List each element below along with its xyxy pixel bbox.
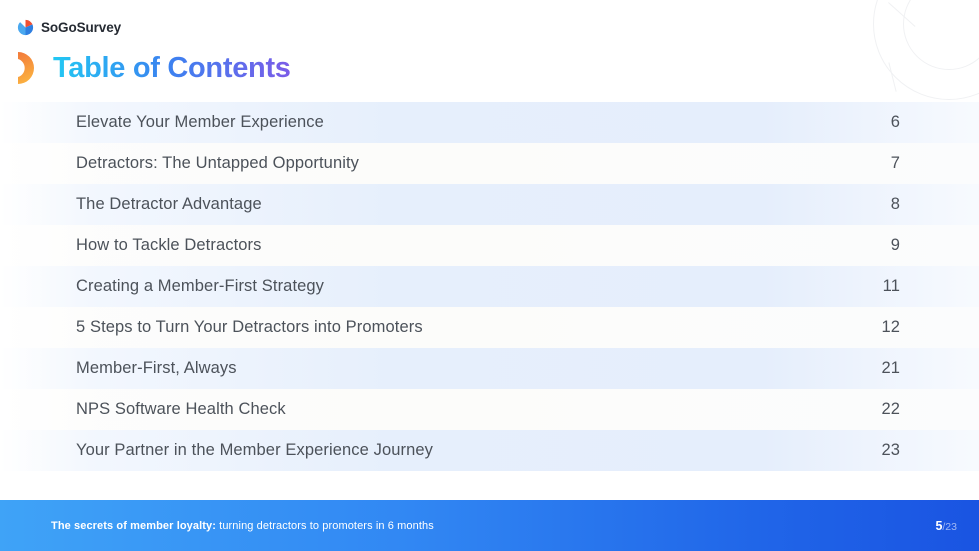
toc-row[interactable]: Elevate Your Member Experience6: [0, 102, 979, 143]
toc-entry-label: NPS Software Health Check: [76, 400, 286, 419]
toc-entry-label: How to Tackle Detractors: [76, 236, 262, 255]
decorative-donut-outline-icon: [873, 0, 979, 100]
toc-entry-page-number: 11: [883, 277, 900, 296]
toc-row[interactable]: Creating a Member-First Strategy11: [0, 266, 979, 307]
footer-bar: The secrets of member loyalty: turning d…: [0, 500, 979, 551]
toc-row[interactable]: 5 Steps to Turn Your Detractors into Pro…: [0, 307, 979, 348]
toc-row[interactable]: How to Tackle Detractors9: [0, 225, 979, 266]
toc-entry-page-number: 7: [891, 154, 900, 173]
toc-entry-label: Member-First, Always: [76, 359, 237, 378]
brand-name: SoGoSurvey: [41, 20, 121, 35]
toc-entry-label: Creating a Member-First Strategy: [76, 277, 324, 296]
sogosurvey-pie-logo-icon: [17, 19, 34, 36]
toc-entry-label: Elevate Your Member Experience: [76, 113, 324, 132]
toc-row[interactable]: Detractors: The Untapped Opportunity7: [0, 143, 979, 184]
footer-title-bold: The secrets of member loyalty:: [51, 520, 216, 532]
toc-row[interactable]: Member-First, Always21: [0, 348, 979, 389]
footer-title: The secrets of member loyalty: turning d…: [51, 520, 434, 532]
orange-crescent-icon: [15, 50, 39, 86]
toc-row[interactable]: NPS Software Health Check22: [0, 389, 979, 430]
toc-entry-label: 5 Steps to Turn Your Detractors into Pro…: [76, 318, 423, 337]
decorative-spoke-icon: [888, 2, 916, 27]
toc-entry-page-number: 12: [881, 318, 900, 337]
page-title: Table of Contents: [53, 50, 291, 86]
total-page-count: /23: [942, 521, 957, 533]
footer-title-rest: turning detractors to promoters in 6 mon…: [216, 520, 434, 532]
slide-canvas: SoGoSurvey Table of Contents Elevate You…: [0, 0, 979, 551]
toc-entry-page-number: 21: [881, 359, 900, 378]
page-indicator: 5/23: [935, 519, 957, 533]
toc-entry-label: The Detractor Advantage: [76, 195, 262, 214]
toc-entry-page-number: 8: [891, 195, 900, 214]
decorative-spoke-icon: [888, 62, 897, 91]
decorative-donut-inner-icon: [903, 0, 979, 70]
page-title-row: Table of Contents: [15, 50, 291, 86]
toc-entry-label: Detractors: The Untapped Opportunity: [76, 154, 359, 173]
toc-entry-page-number: 6: [891, 113, 900, 132]
brand-logo: SoGoSurvey: [17, 19, 121, 36]
toc-row[interactable]: The Detractor Advantage8: [0, 184, 979, 225]
table-of-contents-list: Elevate Your Member Experience6Detractor…: [0, 102, 979, 471]
toc-entry-label: Your Partner in the Member Experience Jo…: [76, 441, 433, 460]
toc-entry-page-number: 22: [881, 400, 900, 419]
toc-entry-page-number: 23: [881, 441, 900, 460]
toc-entry-page-number: 9: [891, 236, 900, 255]
toc-row[interactable]: Your Partner in the Member Experience Jo…: [0, 430, 979, 471]
